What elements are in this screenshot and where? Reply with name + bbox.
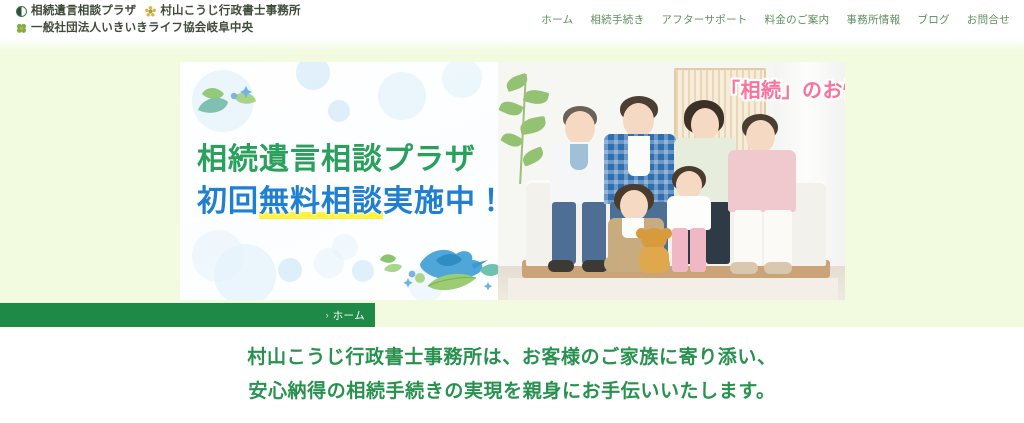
clover-icon bbox=[16, 23, 27, 34]
hero-title-line2: 初回無料相談実施中！ bbox=[197, 182, 497, 222]
bubble-decor bbox=[378, 72, 426, 120]
chevron-right-icon: › bbox=[326, 310, 329, 320]
nav-item-blog[interactable]: ブログ bbox=[917, 12, 949, 27]
teddy-bear-decor bbox=[634, 228, 674, 276]
hero-family-photo: 「相続」のお悩み丸ごと解決！ bbox=[498, 62, 845, 300]
hero-title-line2-post: 実施中！ bbox=[383, 185, 507, 218]
nav-item-after-support[interactable]: アフターサポート bbox=[661, 12, 747, 27]
bubble-decor bbox=[296, 62, 330, 90]
nav-item-inheritance[interactable]: 相続手続き bbox=[590, 12, 644, 27]
moon-circle-icon bbox=[16, 6, 27, 17]
main-message-section: 村山こうじ行政書士事務所は、お客様のご家族に寄り添い、 安心納得の相続手続きの実… bbox=[0, 327, 1024, 423]
brand-name-plaza: 相続遺言相談プラザ bbox=[31, 4, 136, 19]
breadcrumb-item-home[interactable]: ホーム bbox=[333, 308, 365, 323]
nav-item-contact[interactable]: お問合せ bbox=[967, 12, 1010, 27]
brand-line-1: 相続遺言相談プラザ 村山こうじ行政書士事務所 bbox=[16, 4, 436, 19]
hero-catch-copy: 「相続」のお悩み丸ごと解決！ bbox=[720, 74, 845, 103]
person-grandmother bbox=[726, 114, 802, 282]
bubble-decor bbox=[214, 244, 276, 300]
brand-name-office: 村山こうじ行政書士事務所 bbox=[160, 4, 300, 19]
hero-title-line2-pre: 初 bbox=[197, 185, 228, 218]
brand-line-2: 一般社団法人いきいきライフ協会岐阜中央 bbox=[16, 21, 436, 36]
breadcrumb: › ホーム bbox=[0, 303, 375, 327]
hero-title-line2-circle: 回 bbox=[228, 185, 259, 218]
bubble-decor bbox=[328, 100, 350, 122]
hero-left-panel: 相続遺言相談プラザ 初回無料相談実施中！ bbox=[180, 62, 510, 300]
site-brand[interactable]: 相続遺言相談プラザ 村山こうじ行政書士事務所 bbox=[16, 4, 436, 36]
nav-item-office-info[interactable]: 事務所情報 bbox=[846, 12, 900, 27]
hero-title-line2-highlight: 無料相談 bbox=[259, 185, 383, 218]
hero-title-highlight-wrap: 無料相談 bbox=[259, 182, 383, 222]
main-message-line-1: 村山こうじ行政書士事務所は、お客様のご家族に寄り添い、 bbox=[247, 341, 776, 375]
bubble-decor bbox=[442, 62, 482, 98]
leaf-decor-icon bbox=[194, 84, 266, 135]
hero-banner[interactable]: 相続遺言相談プラザ 初回無料相談実施中！ bbox=[180, 62, 845, 300]
page-root: 相続遺言相談プラザ 村山こうじ行政書士事務所 bbox=[0, 0, 1024, 423]
nav-item-home[interactable]: ホーム bbox=[541, 12, 573, 27]
bird-decor-icon bbox=[376, 234, 506, 300]
bubble-decor bbox=[352, 260, 374, 282]
hero-title-line1: 相続遺言相談プラザ bbox=[197, 140, 497, 180]
main-navigation: ホーム 相続手続き アフターサポート 料金のご案内 事務所情報 ブログ お問合せ bbox=[541, 0, 1010, 38]
flower-icon bbox=[145, 6, 156, 17]
bubble-decor bbox=[332, 234, 358, 260]
hero-title-block: 相続遺言相談プラザ 初回無料相談実施中！ bbox=[197, 140, 497, 222]
site-header: 相続遺言相談プラザ 村山こうじ行政書士事務所 bbox=[0, 0, 1024, 38]
nav-item-pricing[interactable]: 料金のご案内 bbox=[765, 12, 830, 27]
main-message-line-2: 安心納得の相続手続きの実現を親身にお手伝いいたします。 bbox=[248, 375, 775, 409]
bubble-decor bbox=[278, 258, 302, 282]
brand-name-association: 一般社団法人いきいきライフ協会岐阜中央 bbox=[31, 21, 253, 36]
